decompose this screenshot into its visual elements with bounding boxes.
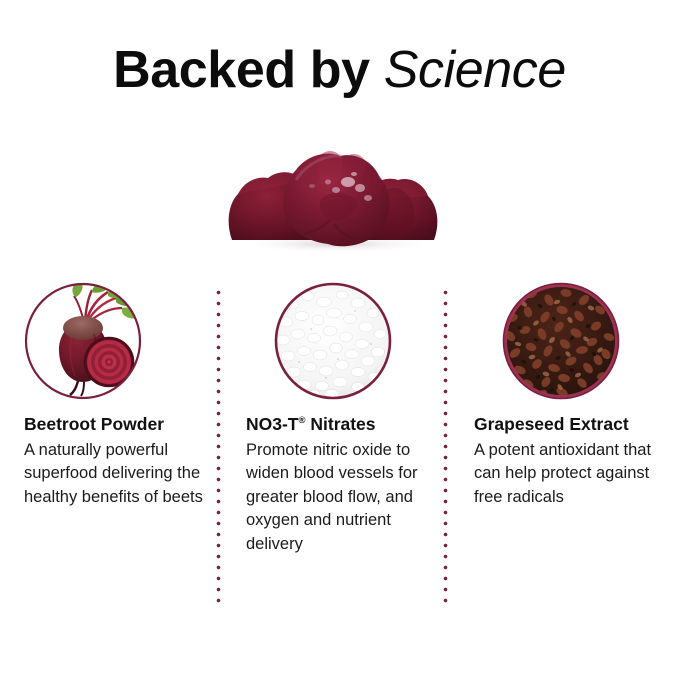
ingredient-column-grapeseed: Grapeseed Extract A potent antioxidant t… [474,282,660,509]
ingredient-column-nitrates: NO3-T® Nitrates Promote nitric oxide to … [246,282,444,556]
page-title-bold: Backed by [113,41,384,99]
column-divider-1 [216,287,221,605]
ingredient-title-beetroot: Beetroot Powder [24,414,204,435]
gummies-hero-image [222,128,454,254]
beetroot-icon [24,282,142,400]
ingredient-title-nitrates-main: NO3-T [246,414,299,434]
registered-trademark-icon: ® [299,415,306,426]
ingredient-title-nitrates: NO3-T® Nitrates [246,414,444,435]
page-title-italic: Science [384,41,566,99]
page-title: Backed by Science [0,44,679,96]
ingredient-body-beetroot: A naturally powerful superfood deliverin… [24,439,204,509]
ingredient-body-nitrates: Promote nitric oxide to widen blood vess… [246,439,444,556]
backed-by-science-infographic: Backed by Science [0,0,679,679]
ingredient-column-beetroot: Beetroot Powder A naturally powerful sup… [24,282,204,509]
ingredient-title-nitrates-suffix: Nitrates [306,414,376,434]
ingredient-body-grapeseed: A potent antioxidant that can help prote… [474,439,660,509]
grapeseed-icon [502,282,620,400]
ingredient-title-grapeseed: Grapeseed Extract [474,414,660,435]
white-powder-icon [274,282,392,400]
